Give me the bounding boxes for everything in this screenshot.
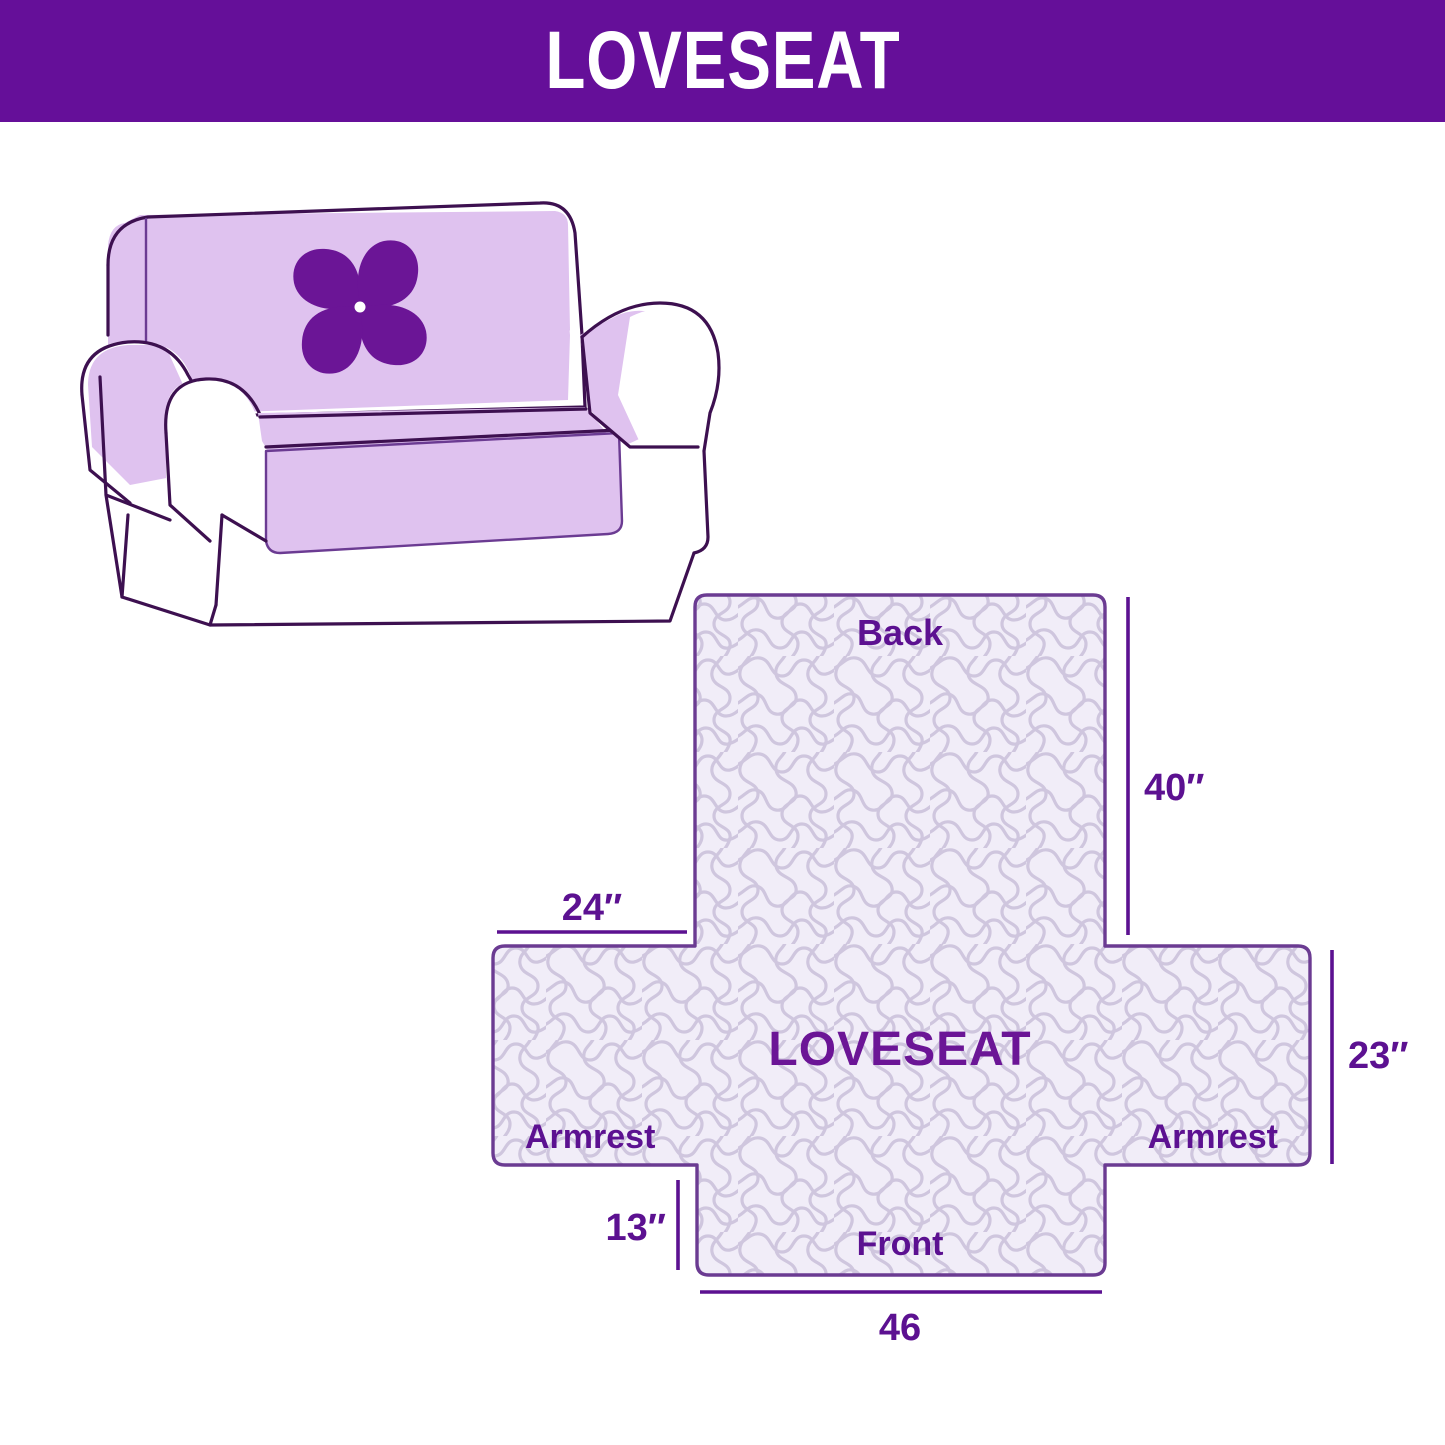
label-armrest-right: Armrest xyxy=(1148,1118,1278,1156)
label-armrest-left: Armrest xyxy=(525,1118,655,1156)
cross-panel xyxy=(493,595,1310,1275)
label-center-loveseat: LOVESEAT xyxy=(768,1023,1031,1076)
dim-label-seat-height: 23″ xyxy=(1348,1035,1408,1077)
label-back: Back xyxy=(857,612,944,653)
label-front: Front xyxy=(857,1225,944,1263)
dim-label-back-height: 40″ xyxy=(1144,767,1204,809)
flat-layout-diagram: Back LOVESEAT Armrest Armrest Front 24″ xyxy=(450,560,1445,1350)
product-dimension-diagram-page: LOVESEAT .sv-fill { fill:#DFC2EF; } .sv-… xyxy=(0,0,1445,1445)
dim-label-front-depth: 13″ xyxy=(606,1207,666,1249)
header-banner: LOVESEAT xyxy=(0,0,1445,122)
page-title: LOVESEAT xyxy=(545,20,900,102)
dim-label-overall-width: 46 xyxy=(879,1307,921,1349)
dim-label-back-depth: 24″ xyxy=(562,887,622,929)
